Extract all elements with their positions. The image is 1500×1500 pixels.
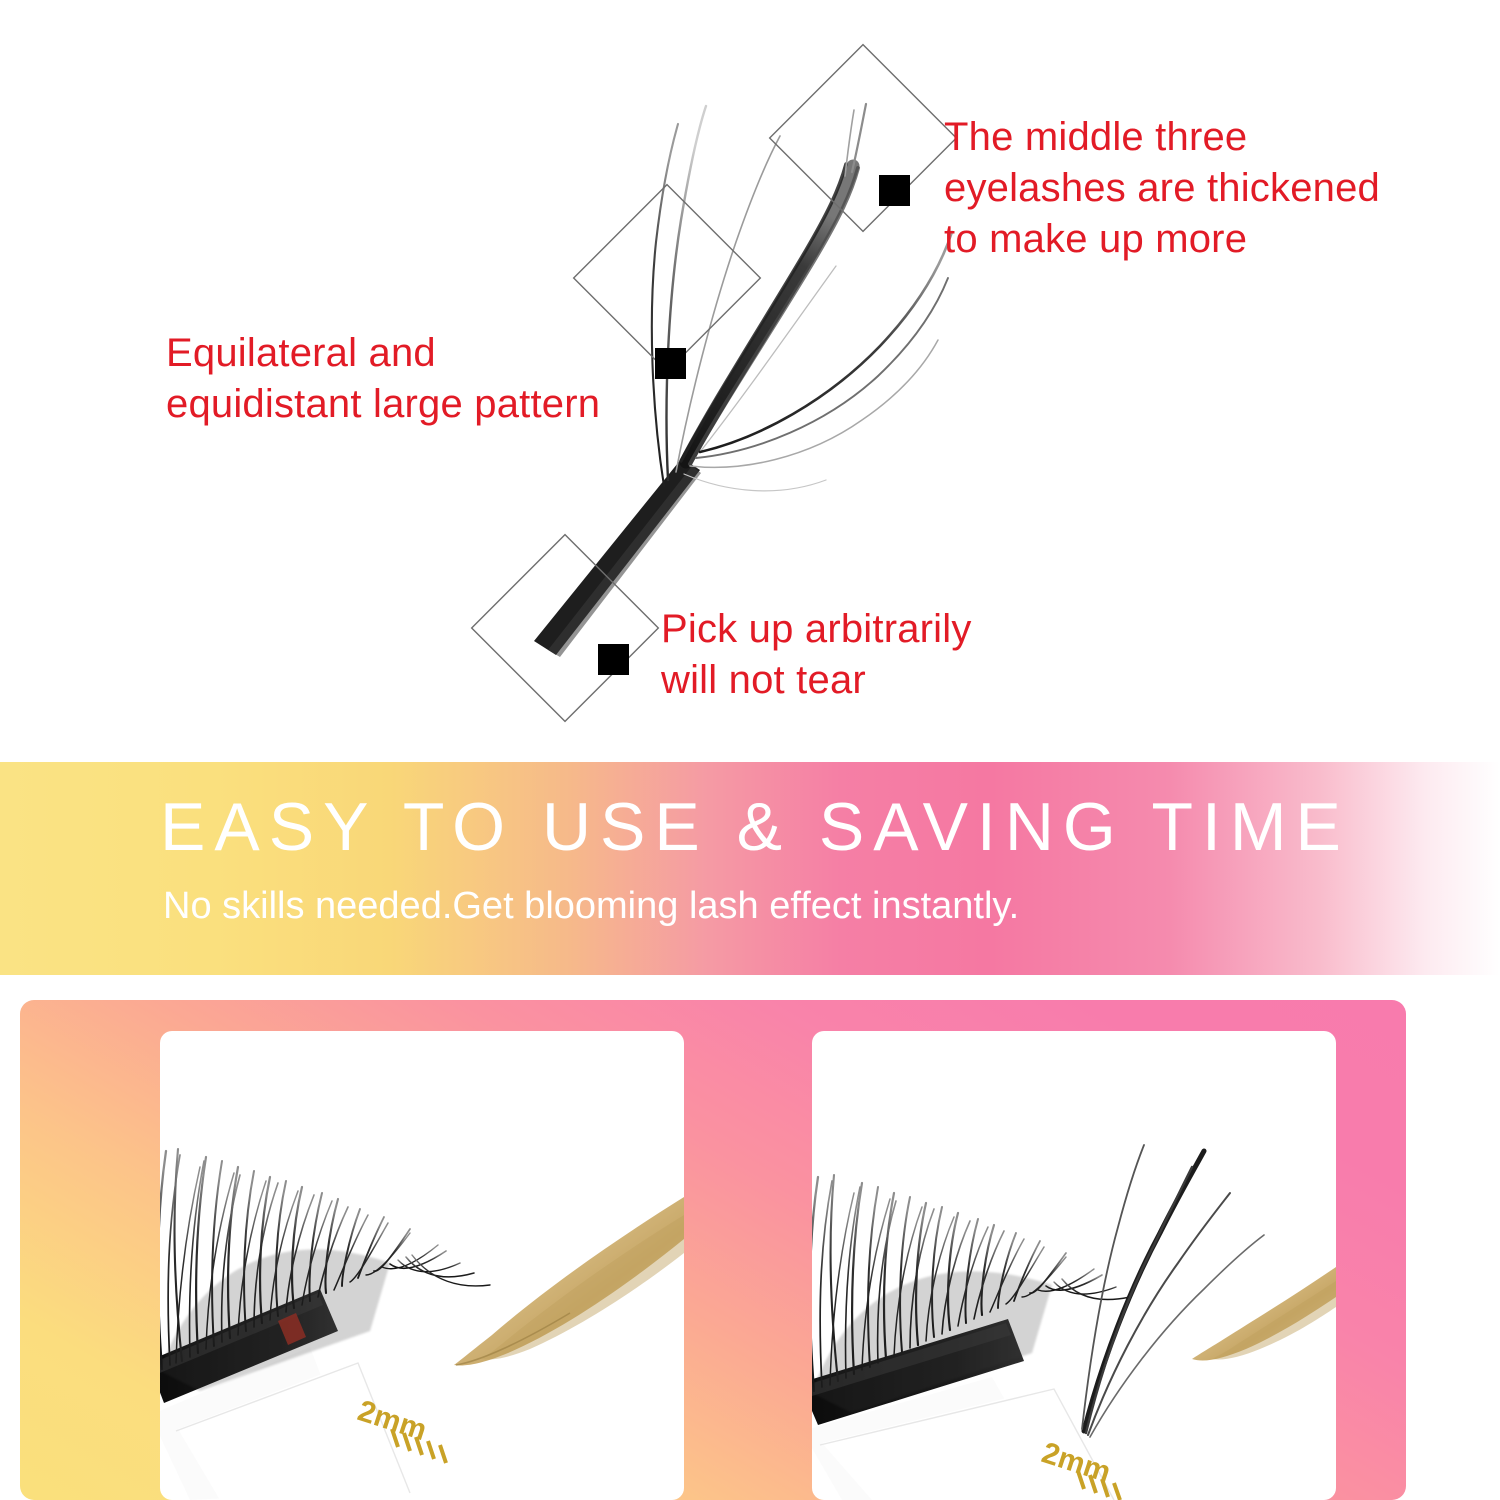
callout-text-middle-three: The middle three eyelashes are thickened… xyxy=(944,112,1394,266)
promo-banner: EASY TO USE & SAVING TIME No skills need… xyxy=(0,762,1500,975)
lash-tray-illustration-left: 2mm xyxy=(160,1031,684,1500)
callout-text-equilateral: Equilateral and equidistant large patter… xyxy=(166,328,636,430)
lash-tray-illustration-right: 2mm xyxy=(812,1031,1336,1500)
lash-haze-right xyxy=(812,1271,1052,1413)
callout-marker-middle-three xyxy=(879,175,910,206)
top-diagram-section: The middle three eyelashes are thickened… xyxy=(0,0,1500,762)
callout-frame-middle-three xyxy=(770,45,957,232)
photo-card-left: 2mm 2mm xyxy=(160,1031,684,1500)
tweezers-right xyxy=(1192,1267,1336,1361)
tweezers-left xyxy=(454,1197,684,1366)
callout-marker-equilateral xyxy=(655,348,686,379)
banner-subtitle: No skills needed.Get blooming lash effec… xyxy=(163,885,1019,928)
callout-text-pick-up: Pick up arbitrarily will not tear xyxy=(661,604,1061,706)
thickened-middle-lashes xyxy=(681,104,866,464)
product-photo-panel: 2mm 2mm xyxy=(20,1000,1406,1500)
banner-title: EASY TO USE & SAVING TIME xyxy=(160,788,1350,866)
callout-marker-pick-up xyxy=(598,644,629,675)
picked-lash-fan-right xyxy=(1082,1145,1264,1437)
photo-card-right: 2mm 2mm xyxy=(812,1031,1336,1500)
